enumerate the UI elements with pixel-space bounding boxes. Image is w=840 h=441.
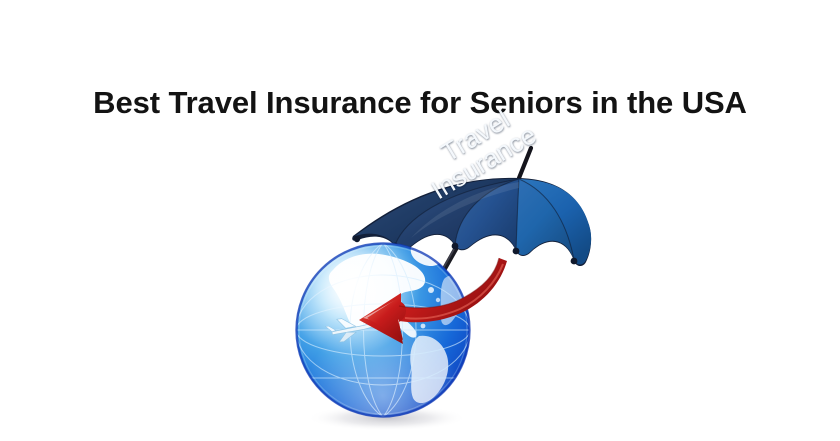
page-canvas: Best Travel Insurance for Seniors in the… bbox=[0, 0, 840, 441]
page-title: Best Travel Insurance for Seniors in the… bbox=[0, 82, 840, 124]
travel-insurance-illustration: Travel Insurance bbox=[295, 130, 595, 430]
umbrella-globe-illustration-svg bbox=[295, 130, 595, 430]
umbrella-finial-icon bbox=[519, 148, 531, 178]
